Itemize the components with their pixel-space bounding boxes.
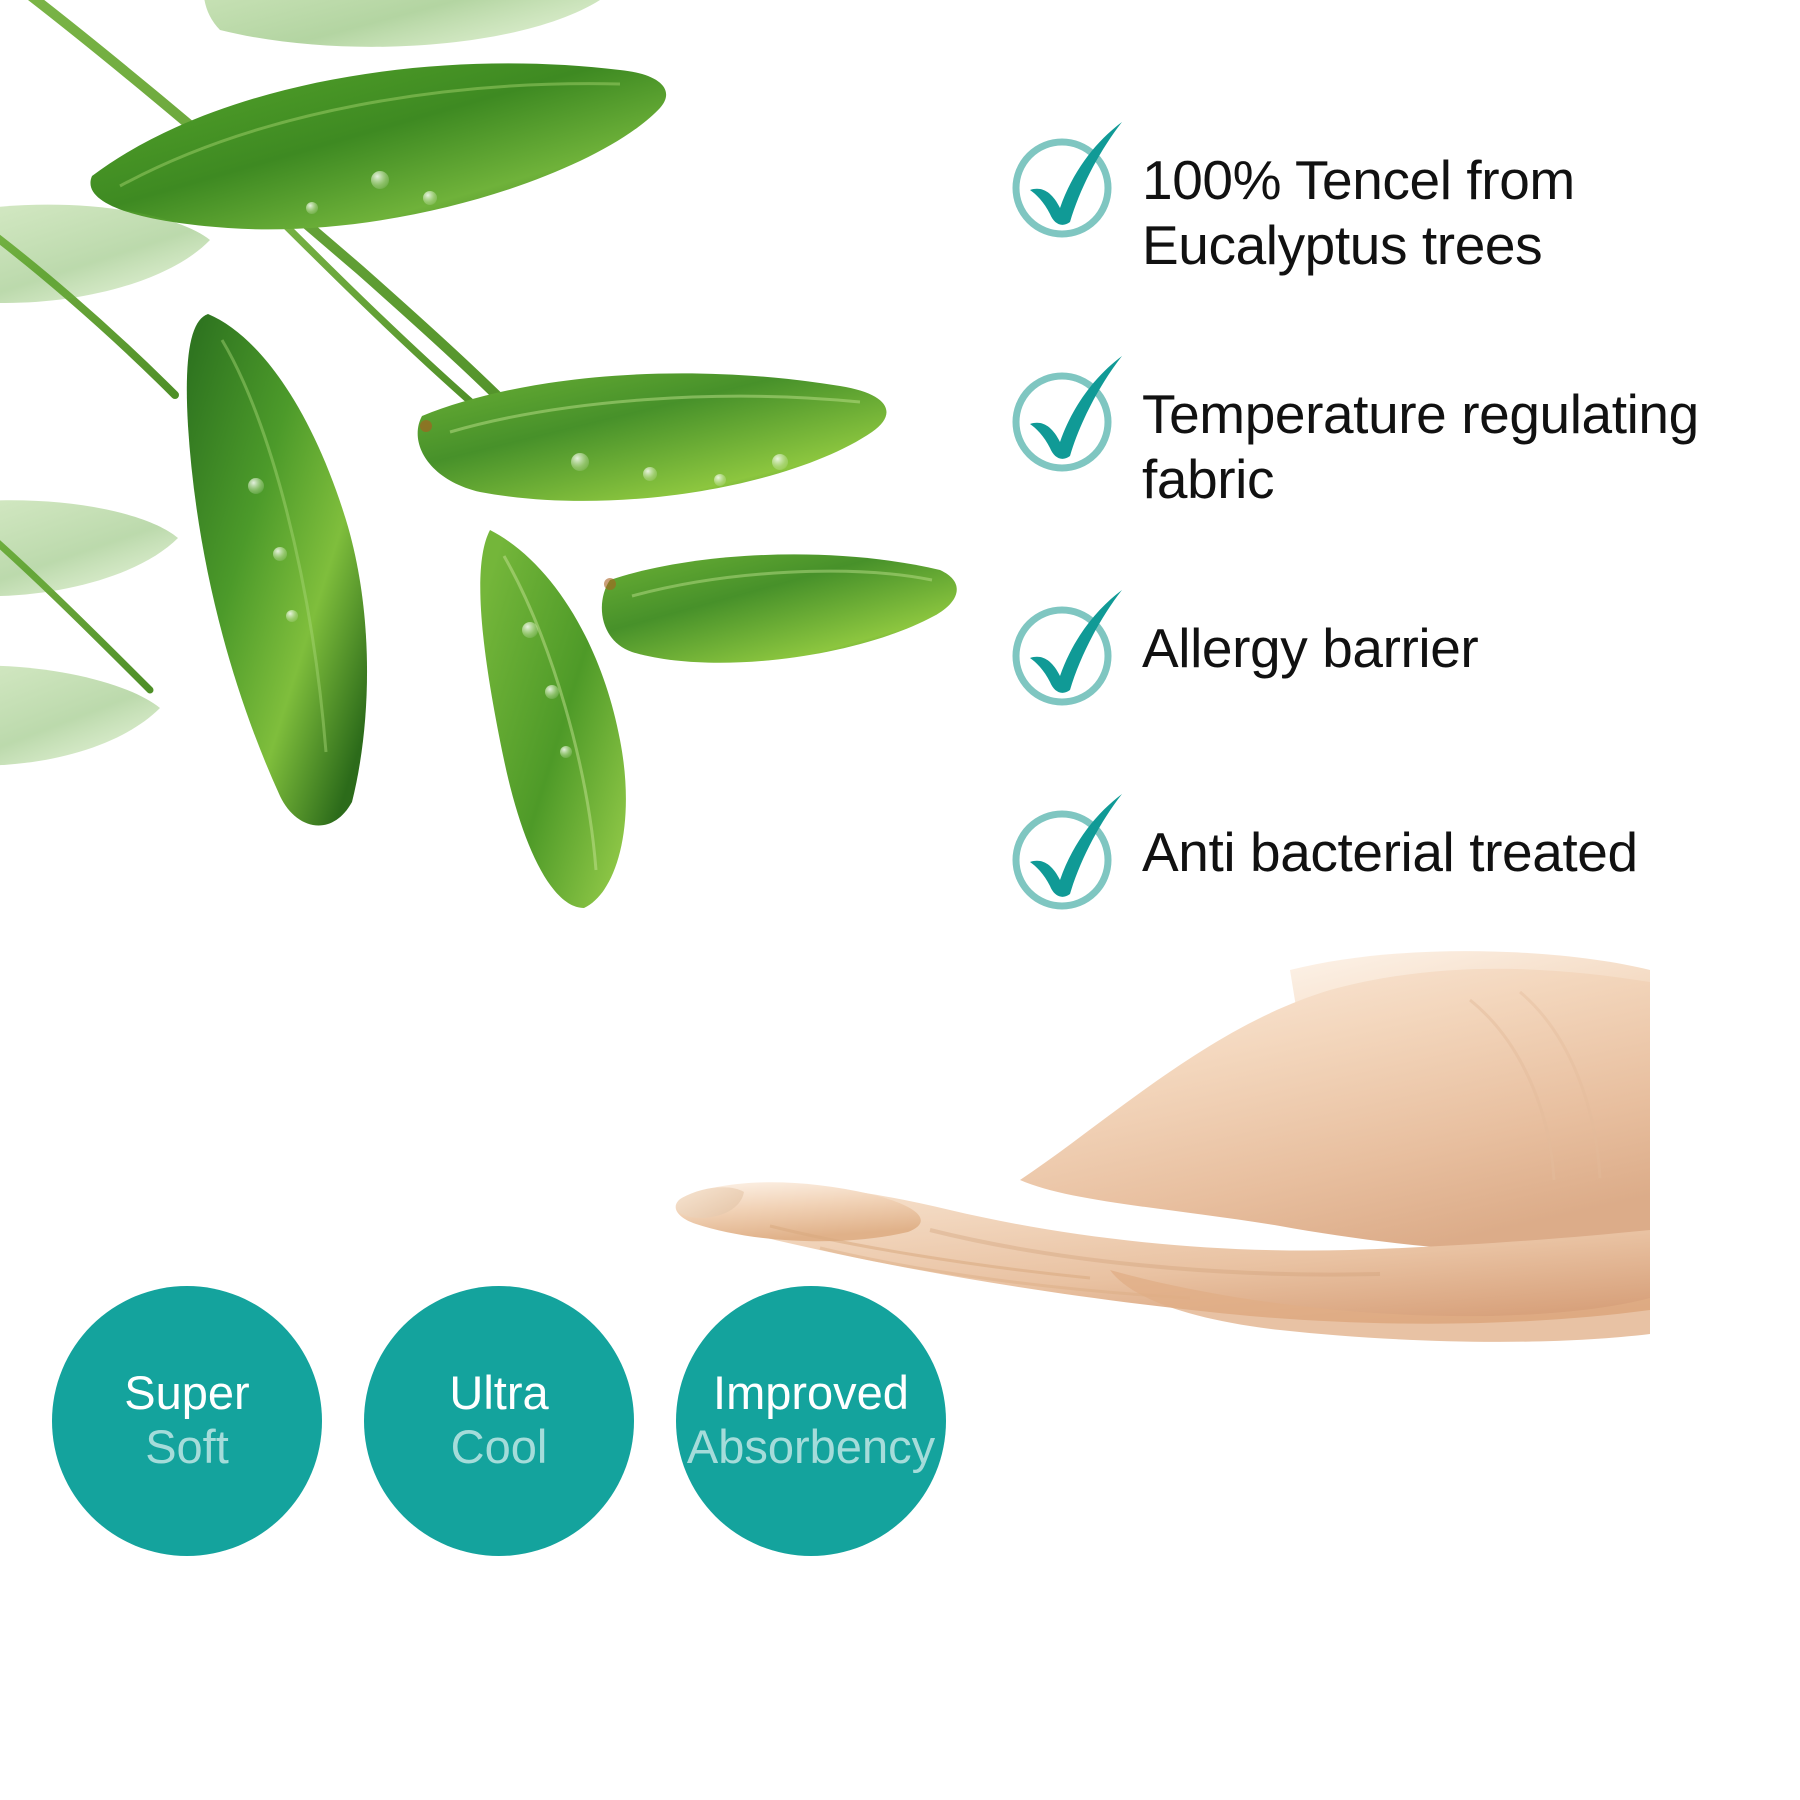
check-circle-icon xyxy=(1000,788,1132,920)
feature-line: Temperature regulating xyxy=(1142,382,1699,447)
badge-super-soft: Super Soft xyxy=(52,1286,322,1556)
feature-item: Temperature regulating fabric xyxy=(1000,364,1780,512)
check-circle-icon xyxy=(1000,584,1132,716)
badge-primary-label: Ultra xyxy=(449,1368,548,1417)
feature-label: Temperature regulating fabric xyxy=(1142,364,1699,512)
badge-secondary-label: Absorbency xyxy=(687,1421,935,1474)
feature-label: 100% Tencel from Eucalyptus trees xyxy=(1142,130,1575,278)
feature-line: 100% Tencel from xyxy=(1142,148,1575,213)
check-circle-icon xyxy=(1000,116,1132,248)
badge-secondary-label: Soft xyxy=(145,1421,229,1474)
feature-item: Allergy barrier xyxy=(1000,598,1780,716)
feature-label: Allergy barrier xyxy=(1142,598,1478,681)
feature-line: Allergy barrier xyxy=(1142,616,1478,681)
badge-row: Super Soft Ultra Cool Improved Absorbenc… xyxy=(52,1286,946,1556)
product-feature-graphic: 100% Tencel from Eucalyptus trees Temper… xyxy=(0,0,1800,1800)
badge-primary-label: Super xyxy=(124,1368,249,1417)
feature-item: 100% Tencel from Eucalyptus trees xyxy=(1000,130,1780,278)
feature-list: 100% Tencel from Eucalyptus trees Temper… xyxy=(1000,130,1780,920)
badge-secondary-label: Cool xyxy=(451,1421,548,1474)
badge-ultra-cool: Ultra Cool xyxy=(364,1286,634,1556)
feature-line: Eucalyptus trees xyxy=(1142,213,1575,278)
feature-item: Anti bacterial treated xyxy=(1000,802,1780,920)
badge-primary-label: Improved xyxy=(713,1368,909,1417)
eucalyptus-branch-photo xyxy=(0,0,960,920)
feature-line: fabric xyxy=(1142,447,1699,512)
feature-label: Anti bacterial treated xyxy=(1142,802,1638,885)
check-circle-icon xyxy=(1000,350,1132,482)
feature-line: Anti bacterial treated xyxy=(1142,820,1638,885)
badge-improved-absorbency: Improved Absorbency xyxy=(676,1286,946,1556)
